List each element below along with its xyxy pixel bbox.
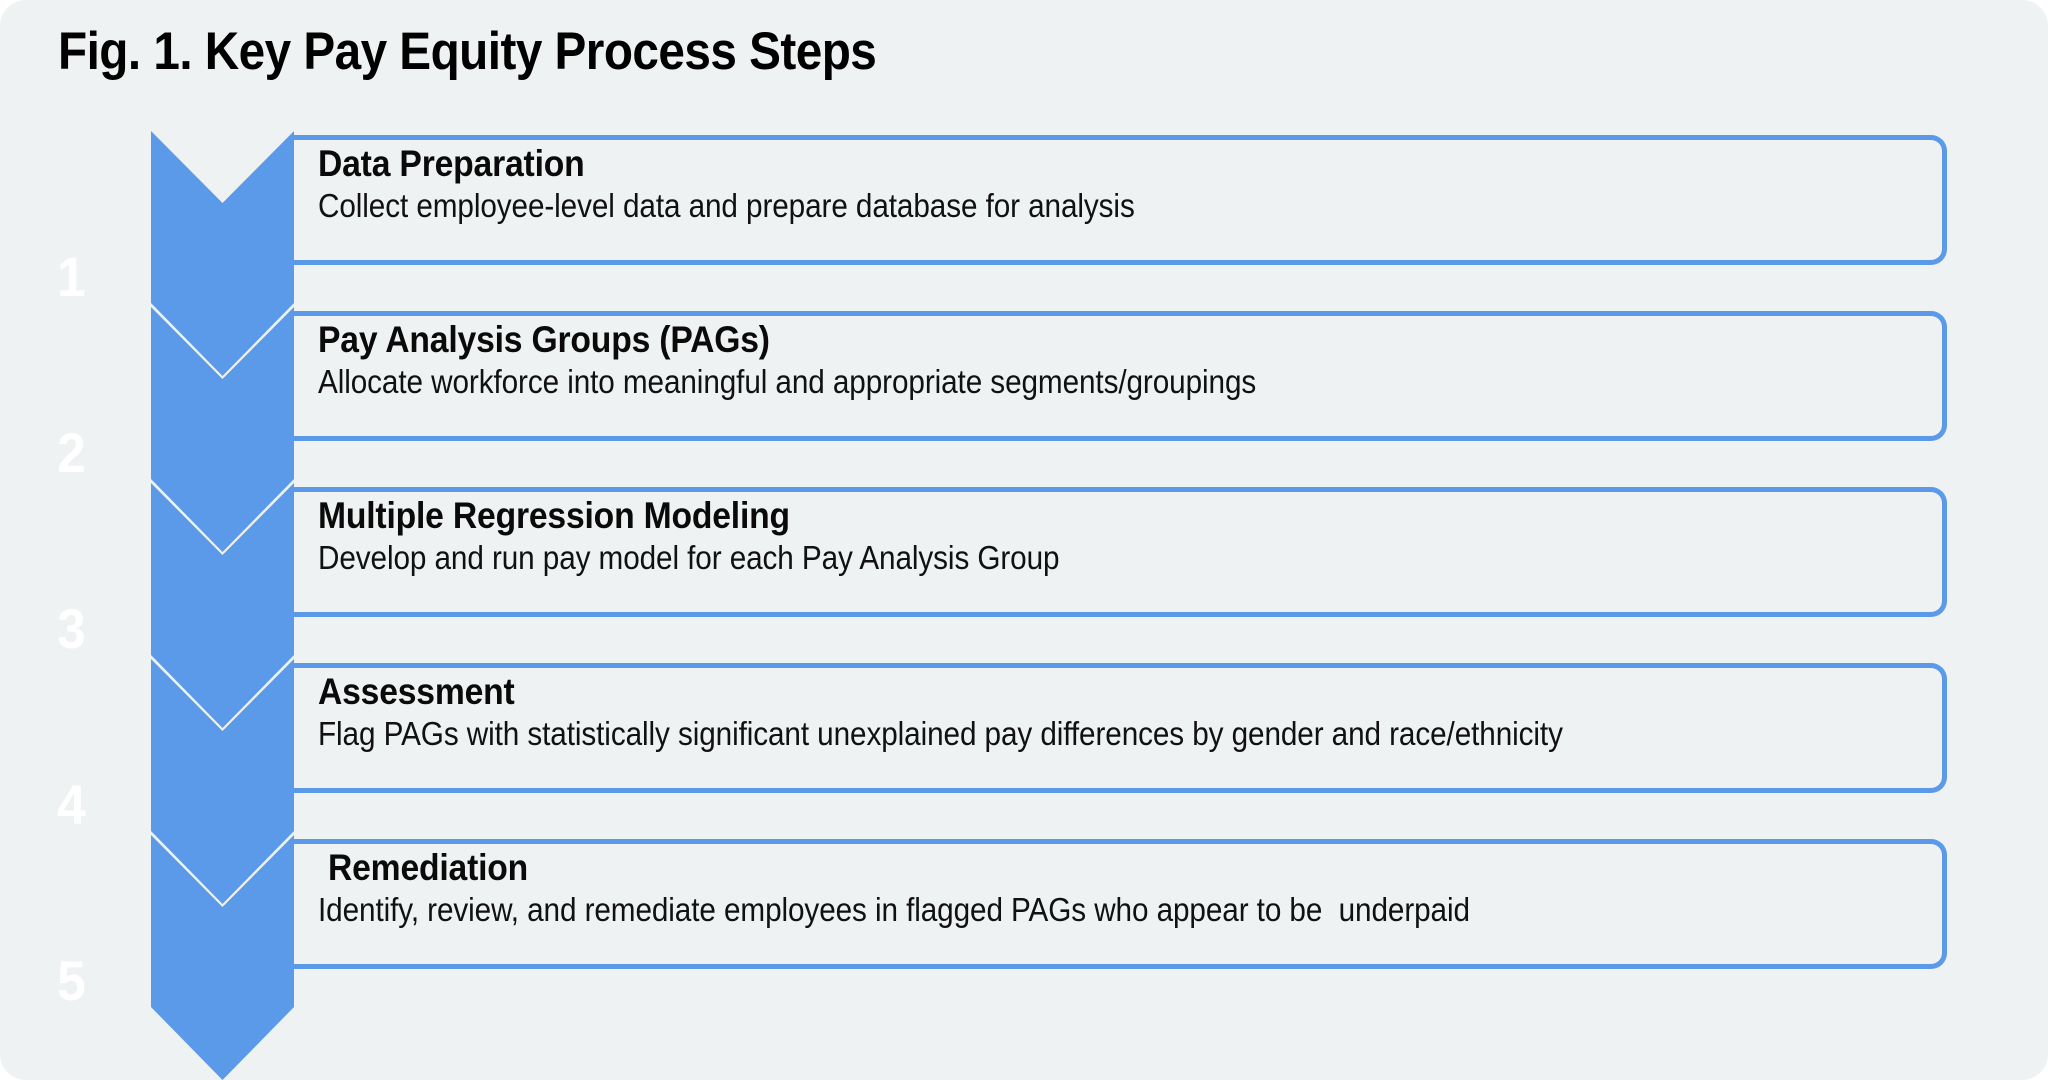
step-box-2[interactable]: Pay Analysis Groups (PAGs) Allocate work…	[290, 311, 1947, 441]
step-description-4: Flag PAGs with statistically significant…	[318, 714, 1771, 754]
step-box-1[interactable]: Data Preparation Collect employee-level …	[290, 135, 1947, 265]
step-text-1: Data Preparation Collect employee-level …	[318, 143, 1932, 226]
process-steps-list: 1 Data Preparation Collect employee-leve…	[0, 0, 2048, 1080]
step-number-3: 3	[6, 601, 138, 657]
step-number-4: 4	[6, 777, 138, 833]
step-text-5: Remediation Identify, review, and remedi…	[318, 847, 1932, 930]
step-box-4[interactable]: Assessment Flag PAGs with statistically …	[290, 663, 1947, 793]
step-number-1: 1	[6, 249, 138, 305]
step-text-3: Multiple Regression Modeling Develop and…	[318, 495, 1932, 578]
step-box-5[interactable]: Remediation Identify, review, and remedi…	[290, 839, 1947, 969]
step-number-5: 5	[6, 953, 138, 1009]
step-title-4: Assessment	[318, 671, 1787, 714]
step-description-3: Develop and run pay model for each Pay A…	[318, 538, 1771, 578]
chevron-down-icon-5	[151, 835, 294, 1080]
step-number-2: 2	[6, 425, 138, 481]
process-step-2: 2 Pay Analysis Groups (PAGs) Allocate wo…	[0, 307, 2048, 483]
step-title-3: Multiple Regression Modeling	[318, 495, 1787, 538]
step-text-4: Assessment Flag PAGs with statistically …	[318, 671, 1932, 754]
figure-canvas: Fig. 1. Key Pay Equity Process Steps 1 D…	[0, 0, 2048, 1080]
step-title-2: Pay Analysis Groups (PAGs)	[318, 319, 1787, 362]
step-text-2: Pay Analysis Groups (PAGs) Allocate work…	[318, 319, 1932, 402]
process-step-4: 4 Assessment Flag PAGs with statisticall…	[0, 659, 2048, 835]
process-step-5: 5 Remediation Identify, review, and reme…	[0, 835, 2048, 1011]
step-box-3[interactable]: Multiple Regression Modeling Develop and…	[290, 487, 1947, 617]
process-step-3: 3 Multiple Regression Modeling Develop a…	[0, 483, 2048, 659]
step-description-1: Collect employee-level data and prepare …	[318, 186, 1771, 226]
step-title-5: Remediation	[318, 847, 1787, 890]
process-step-1: 1 Data Preparation Collect employee-leve…	[0, 131, 2048, 307]
step-title-1: Data Preparation	[318, 143, 1787, 186]
step-description-5: Identify, review, and remediate employee…	[318, 890, 1771, 930]
step-description-2: Allocate workforce into meaningful and a…	[318, 362, 1771, 402]
